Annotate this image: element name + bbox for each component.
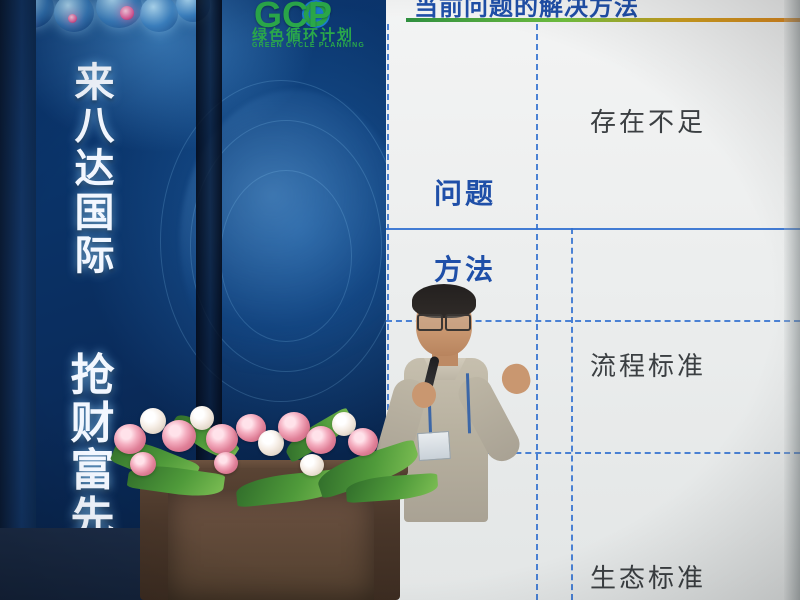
stage-banner-column-1: 来 八 达 国 际	[52, 62, 138, 278]
presenter-right-hand	[499, 361, 534, 397]
slide-title-container: 当前问题的解决方法	[414, 0, 800, 20]
presenter-hair	[412, 284, 476, 318]
banner-char-3: 达	[52, 148, 138, 191]
slide-label-problem: 问题	[434, 172, 496, 212]
flower-arrangement	[110, 396, 440, 528]
slide-cell-process-standard: 流程标准	[590, 346, 706, 383]
conference-stage-photo: 来 八 达 国 际 抢 财 富 先 机 当前问题的解决方法 问题 方法 存在不足…	[0, 0, 800, 600]
slide-title: 当前问题的解决方法	[414, 0, 639, 20]
slide-cell-eco-standard: 生态标准	[590, 558, 706, 595]
slide-cell-deficiency: 存在不足	[590, 102, 706, 139]
gcp-logo-english: GREEN CYCLE PLANNING	[252, 42, 365, 49]
banner-char-2: 八	[52, 105, 138, 148]
slide-title-rule	[406, 18, 800, 22]
banner-char-1: 来	[52, 62, 138, 105]
banner-char-5: 际	[52, 235, 138, 278]
gcp-logo: GCP 绿色循环计划 GREEN CYCLE PLANNING	[246, 0, 372, 54]
stage-left-pillar	[0, 0, 36, 600]
slide-grid-line-solid	[386, 228, 800, 230]
slide-grid-vline-2	[571, 228, 573, 600]
banner2-char-1: 抢	[50, 352, 136, 400]
screen-right-edge	[784, 0, 800, 600]
banner-char-4: 国	[52, 192, 138, 235]
glasses-icon	[416, 314, 472, 327]
